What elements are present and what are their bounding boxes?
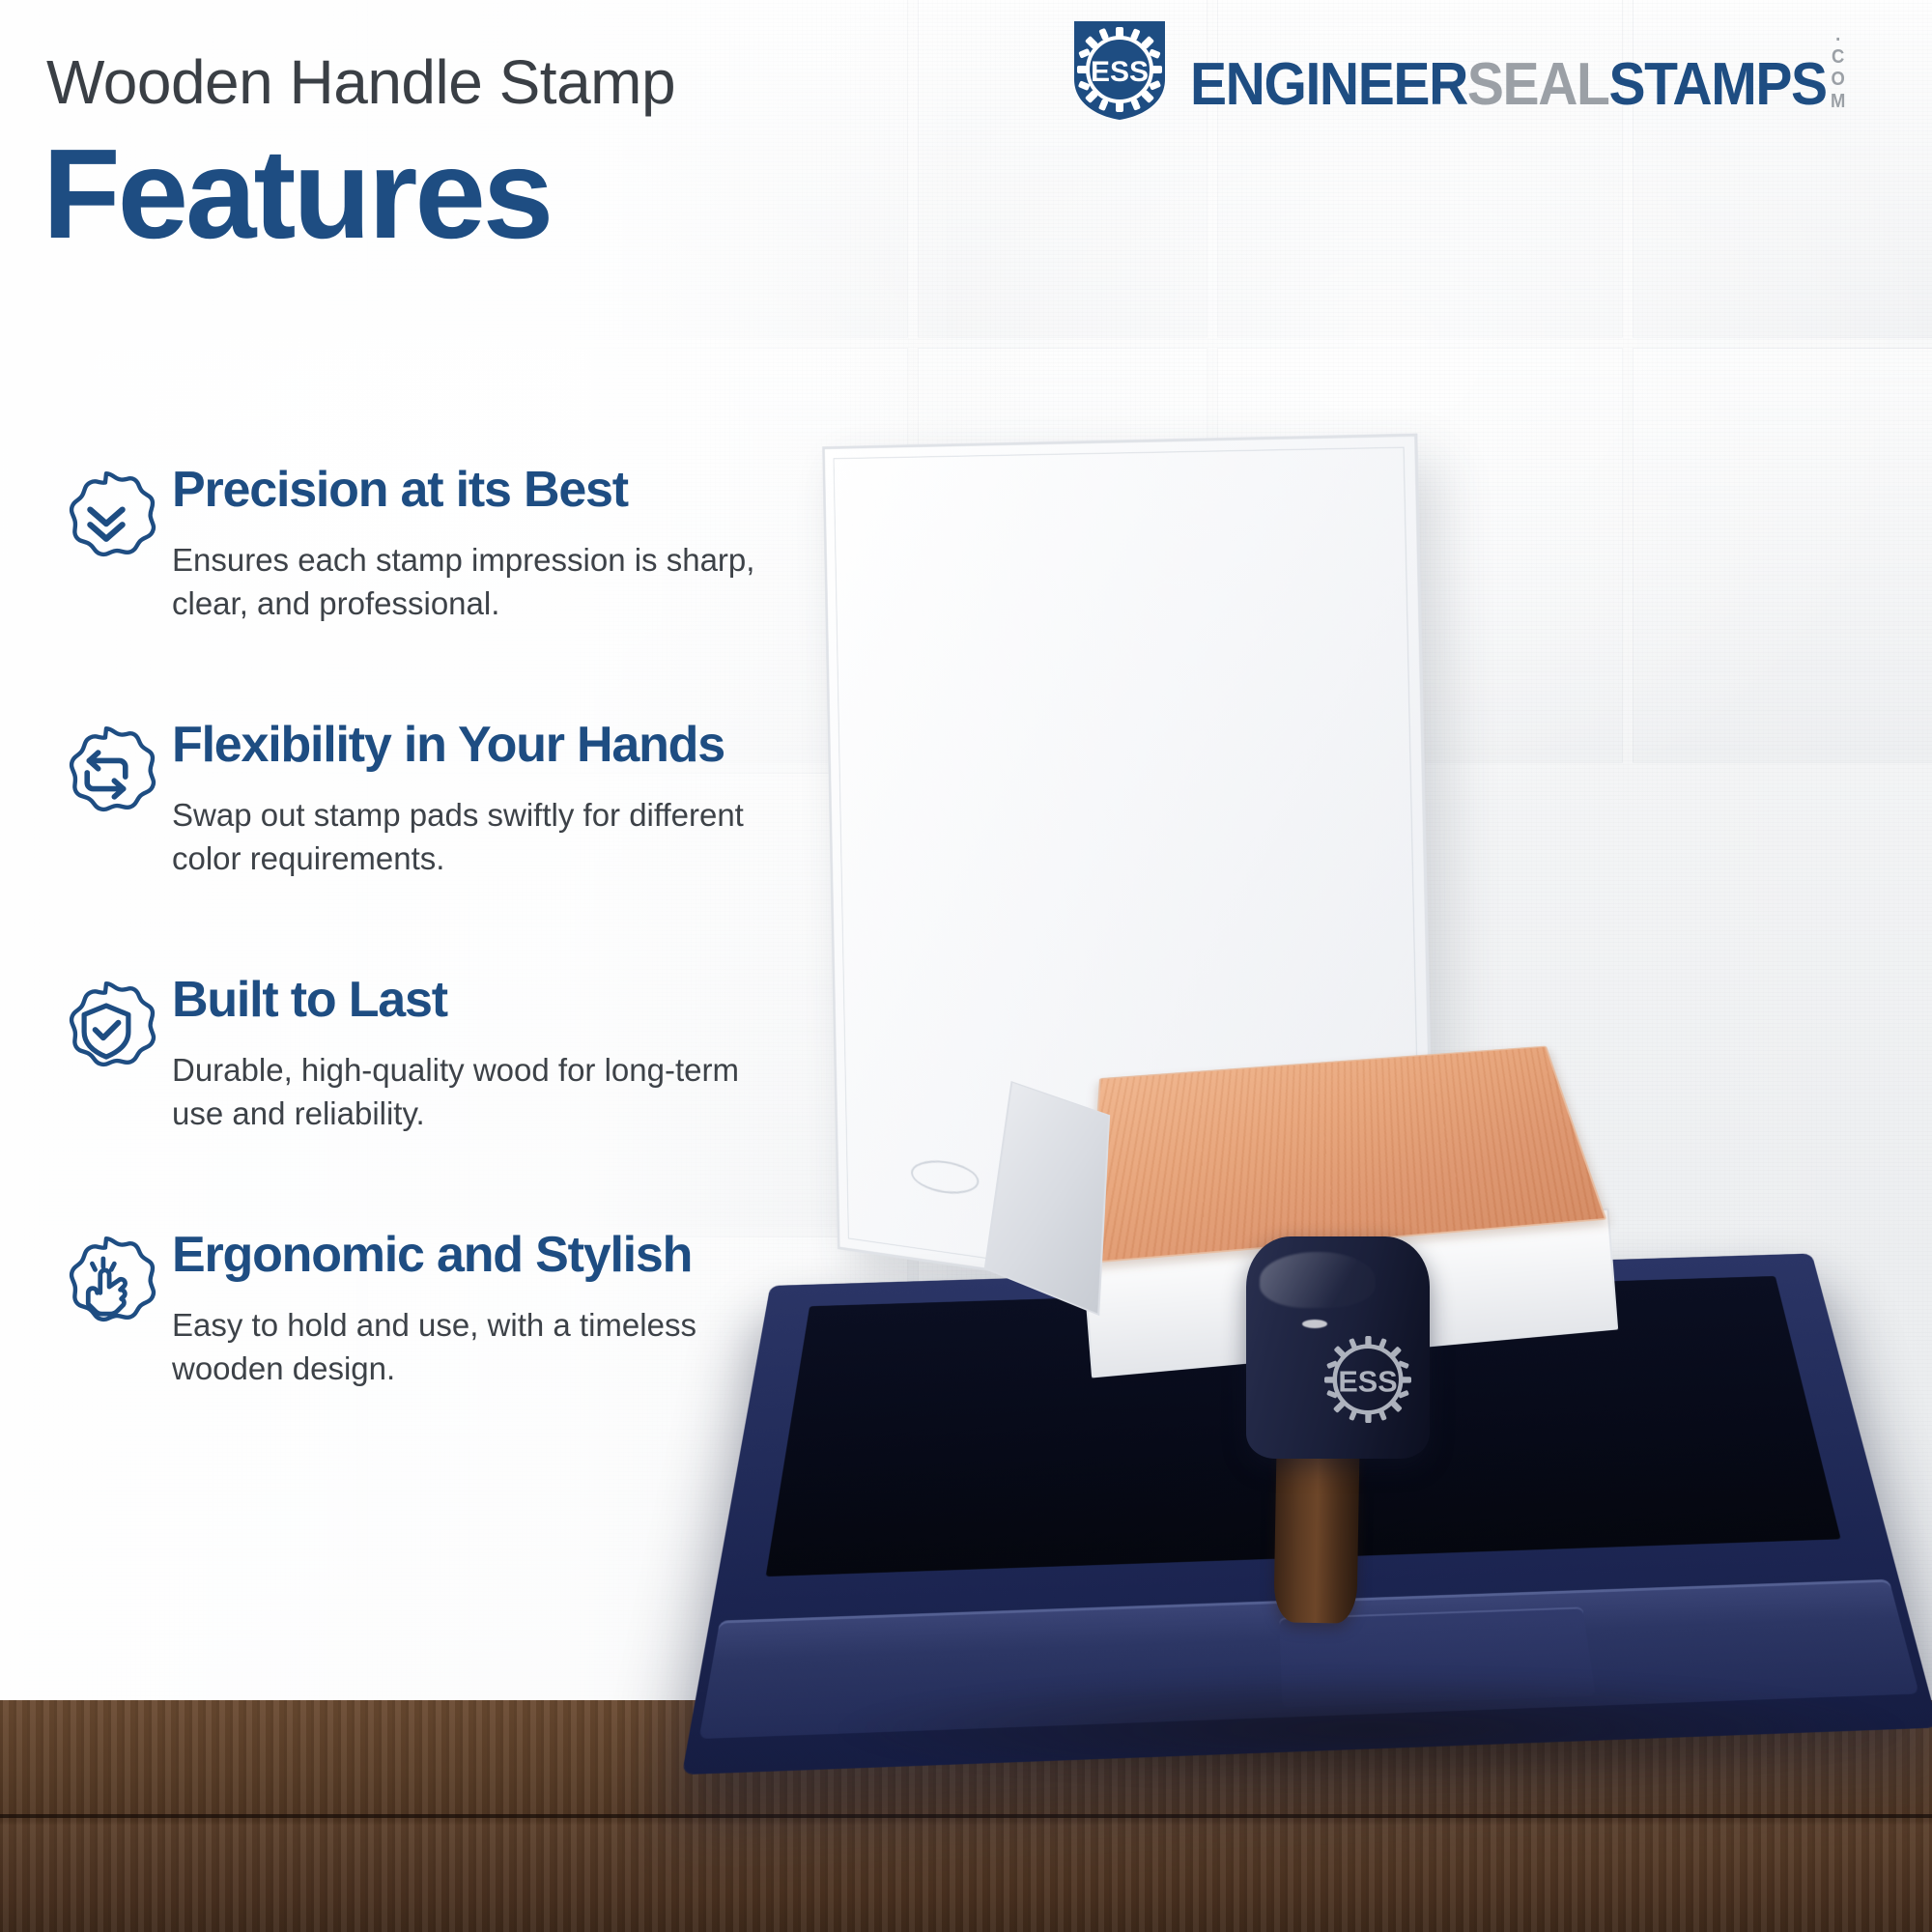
stamp-wooden-neck [1273,1438,1359,1623]
wordmark-stamps: STAMPS [1609,55,1827,115]
feature-item: Flexibility in Your Hands Swap out stamp… [27,719,935,962]
page-title: Features [43,130,893,258]
wordmark-tld: .COM [1830,24,1846,113]
infographic-stage: ESS Wooden Handle Stamp Features Precisi… [0,0,1932,1932]
stamp-wood-base [1088,1046,1607,1264]
brand-logo[interactable]: ESS ENGINEER SEAL STAMPS .COM [879,17,1903,122]
badge-shield-check-icon [56,980,156,1080]
feature-list: Precision at its Best Ensures each stamp… [27,452,935,1472]
feature-heading: Precision at its Best [172,464,935,517]
feature-heading: Ergonomic and Stylish [172,1229,935,1282]
content-column: Wooden Handle Stamp Features Precision a… [0,0,947,1700]
feature-description: Swap out stamp pads swiftly for differen… [172,793,810,881]
badge-swap-arrows-icon [56,724,156,825]
page-subtitle: Wooden Handle Stamp [46,50,896,115]
badge-double-chevron-down-icon [56,469,156,570]
feature-description: Durable, high-quality wood for long-term… [172,1048,810,1136]
wordmark-seal: SEAL [1467,55,1609,115]
product-photo: ESS [947,406,1932,1932]
feature-description: Ensures each stamp impression is sharp, … [172,538,810,626]
feature-heading: Flexibility in Your Hands [172,719,935,772]
feature-item: Ergonomic and Stylish Easy to hold and u… [27,1229,935,1472]
brand-wordmark: ENGINEER SEAL STAMPS .COM [1190,24,1846,115]
stamp-handle: ESS [1246,1236,1430,1459]
handle-logo-text: ESS [1338,1366,1397,1399]
wordmark-engineer: ENGINEER [1190,55,1467,115]
handle-highlight [1260,1252,1376,1308]
feature-item: Precision at its Best Ensures each stamp… [27,464,935,707]
ess-shield-gear-icon: ESS [1066,17,1173,122]
badge-pointing-hand-icon [56,1235,156,1335]
feature-description: Easy to hold and use, with a timeless wo… [172,1303,810,1391]
handle-ess-gear-logo-icon: ESS [1316,1325,1420,1434]
product-contact-shadow [831,1671,1913,1787]
logo-mark-text: ESS [1091,56,1149,88]
feature-heading: Built to Last [172,974,935,1027]
feature-item: Built to Last Durable, high-quality wood… [27,974,935,1217]
